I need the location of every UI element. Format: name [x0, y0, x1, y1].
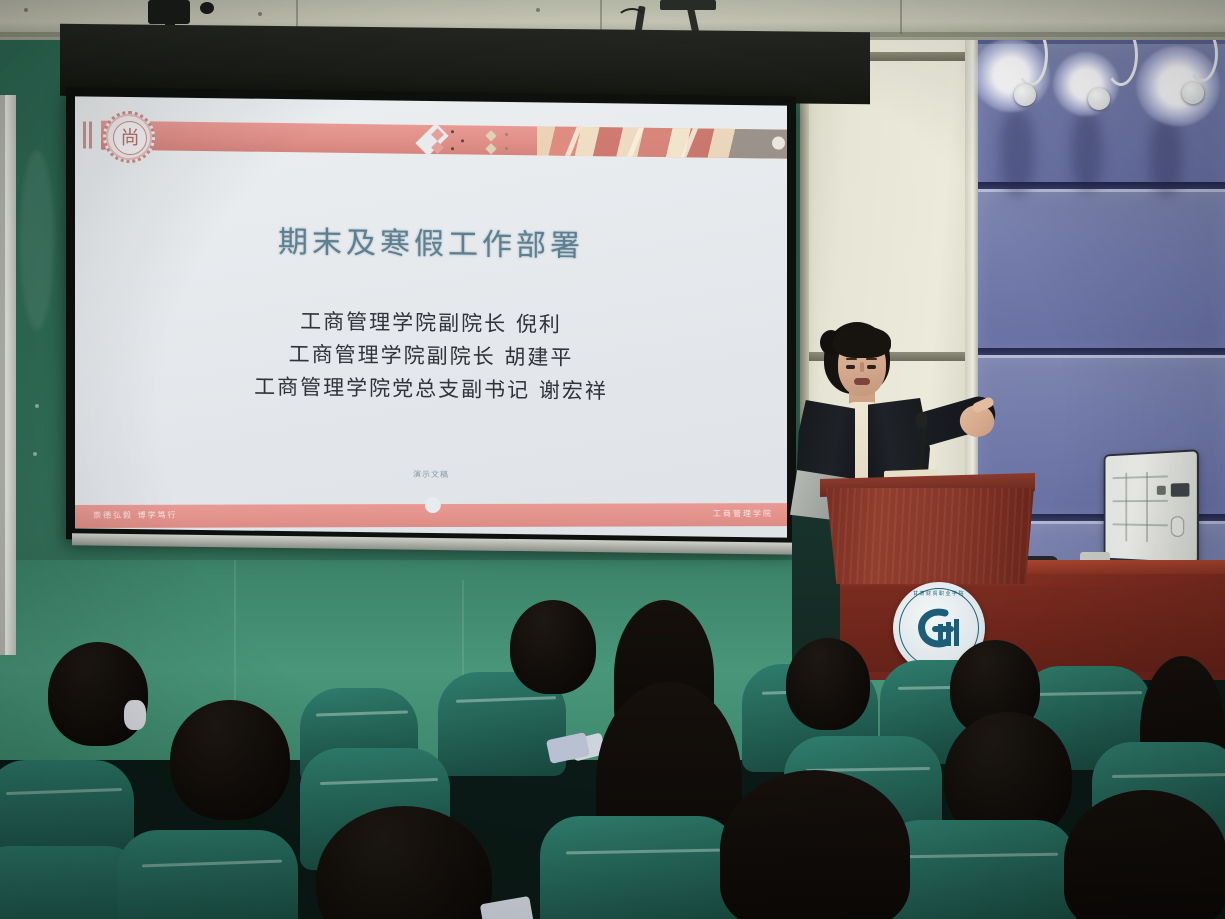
projection-screen: 尚 期末及寒假工作部署 工商管理学院副院长 倪利 工商管理学院副院长 胡建平 工… — [66, 87, 796, 549]
presenter-eye — [867, 365, 876, 369]
audience-head — [170, 700, 290, 820]
audience-head — [720, 770, 910, 919]
dot-ornament — [461, 139, 464, 142]
ceiling-panel-line — [900, 0, 902, 34]
presenter-eye — [846, 365, 855, 369]
acoustic-panel — [978, 192, 1225, 352]
panel-seam — [978, 348, 1225, 355]
dot-ornament — [505, 147, 508, 150]
podium — [826, 488, 1034, 584]
slide-seal-logo: 尚 — [103, 111, 155, 164]
presenter-nose — [860, 362, 864, 372]
photo-chip — [772, 136, 785, 149]
seat — [540, 816, 738, 919]
spotlight-head[interactable] — [1088, 88, 1110, 110]
diamond-ornament — [431, 128, 444, 141]
face-mask — [124, 700, 146, 730]
av-shelf — [1113, 523, 1168, 526]
podium-wood-grain — [826, 488, 1034, 584]
spotlight-head[interactable] — [1182, 82, 1204, 104]
presenter-eyebrow — [866, 358, 877, 360]
header-tick — [89, 122, 92, 149]
spotlight-shadow — [1150, 118, 1182, 196]
slide-footer-band: 崇德弘毅 博学笃行 工商管理学院 — [75, 503, 787, 528]
slide-title: 期末及寒假工作部署 — [75, 214, 787, 267]
presenter-eyebrow — [846, 358, 857, 360]
seat — [118, 830, 298, 919]
audience-head — [510, 600, 596, 694]
av-shelf — [1113, 500, 1168, 502]
photo-slash — [679, 126, 700, 158]
slide-header-band: 尚 — [75, 118, 787, 161]
microphone-head — [916, 412, 927, 428]
footer-notch — [425, 497, 441, 513]
diamond-ornament — [431, 141, 444, 154]
wall-fixture-dot — [33, 452, 37, 456]
audience-head — [786, 638, 870, 730]
emblem-monogram-icon — [911, 600, 967, 656]
wall-scuff — [20, 150, 54, 330]
spotlight-shadow — [1000, 110, 1034, 196]
av-divider — [1125, 473, 1127, 541]
presenter-fringe — [833, 326, 891, 358]
av-divider — [1146, 472, 1148, 542]
av-display — [1171, 483, 1190, 497]
audience-head — [1064, 790, 1225, 919]
spotlight-shadow — [1072, 112, 1102, 192]
dot-ornament — [451, 130, 454, 133]
dot-ornament — [451, 147, 454, 150]
header-photo-strip — [537, 126, 787, 158]
projector-mount-plate — [660, 0, 716, 10]
audience-head — [48, 642, 148, 746]
wall-seam — [234, 560, 236, 710]
seal-glyph: 尚 — [113, 121, 147, 155]
header-tick-group — [83, 121, 97, 148]
footer-motto: 崇德弘毅 博学笃行 — [93, 510, 178, 521]
presenter-mouth — [854, 378, 870, 385]
slide-watermark: 演示文稿 — [75, 464, 787, 484]
header-tick — [83, 121, 86, 148]
spotlight-head[interactable] — [1014, 84, 1036, 106]
ceiling-screw — [258, 12, 262, 16]
diamond-ornament — [485, 143, 496, 154]
av-shelf — [1113, 475, 1168, 479]
av-knob[interactable] — [1171, 516, 1184, 537]
photo-slash — [563, 126, 584, 158]
slide-body: 工商管理学院副院长 倪利 工商管理学院副院长 胡建平 工商管理学院党总支副书记 … — [75, 302, 787, 410]
lecture-hall-photo: 尚 期末及寒假工作部署 工商管理学院副院长 倪利 工商管理学院副院长 胡建平 工… — [0, 0, 1225, 919]
wall-fixture-dot — [35, 404, 39, 408]
av-control-cabinet[interactable] — [1104, 449, 1199, 565]
door-jamb-edge — [0, 95, 5, 655]
photo-slash — [625, 126, 646, 158]
presentation-slide: 尚 期末及寒假工作部署 工商管理学院副院长 倪利 工商管理学院副院长 胡建平 工… — [75, 96, 787, 537]
diamond-ornament — [485, 130, 496, 141]
footer-org: 工商管理学院 — [713, 508, 773, 519]
ceiling-screw — [536, 8, 540, 12]
ceiling-fixture-knob — [200, 2, 214, 14]
dot-ornament — [505, 133, 508, 136]
ceiling-screw — [24, 8, 28, 12]
header-ornament — [427, 127, 537, 154]
av-button[interactable] — [1157, 486, 1166, 495]
